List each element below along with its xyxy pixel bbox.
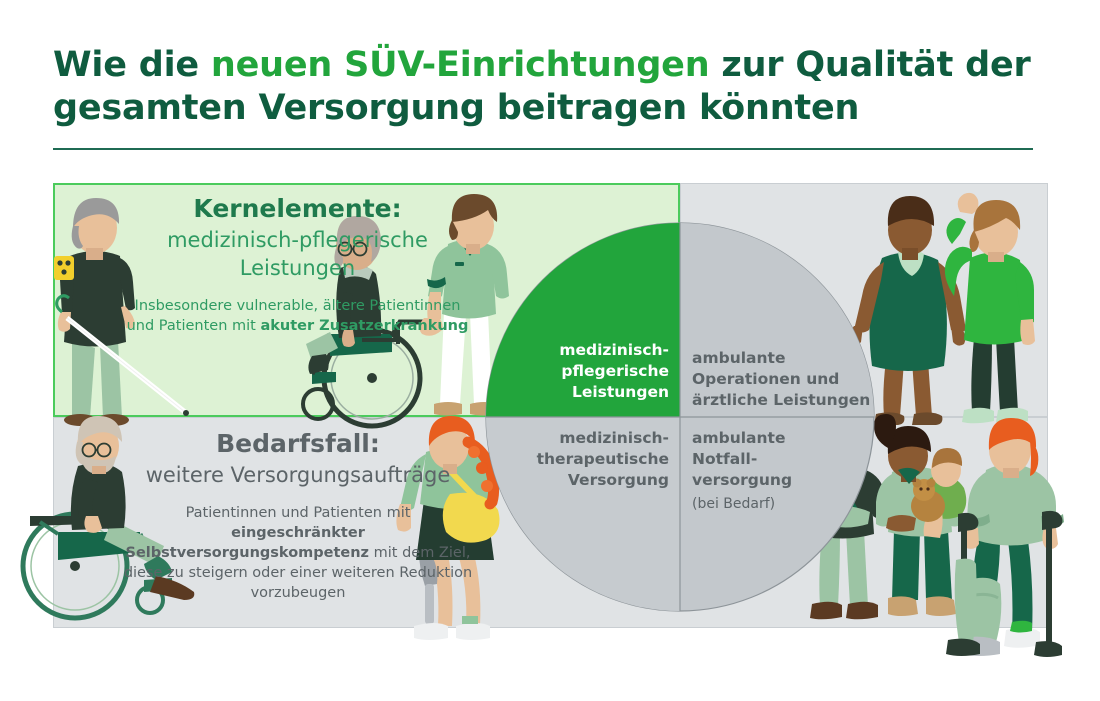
title-highlight: neuen SÜV-Einrichtungen [211, 45, 710, 85]
title-divider [53, 148, 1033, 150]
bedarfsfall-body-pre: Patientinnen und Patienten mit [186, 505, 411, 521]
bedarfsfall-body-bold: eingeschränkter Selbstversorgungskompete… [126, 525, 369, 561]
page-title: Wie die neuen SÜV-Einrichtungen zur Qual… [53, 44, 1033, 130]
infographic-root: Wie die neuen SÜV-Einrichtungen zur Qual… [0, 0, 1100, 701]
circle-label-ambulante-operationen: ambulante Operationen und ärztliche Leis… [692, 348, 872, 411]
circle-label-ambulante-notfallversorgung: ambulante Notfall-versorgung (bei Bedarf… [692, 428, 842, 515]
bedarfsfall-subheading: weitere Versorgungsaufträge [118, 461, 478, 489]
circle-label-notfall-main: ambulante Notfall-versorgung [692, 429, 792, 489]
quadrant-text-bottom-left: Bedarfsfall: weitere Versorgungsaufträge… [118, 428, 478, 603]
bedarfsfall-heading: Bedarfsfall: [118, 428, 478, 459]
circle-label-medizinisch-pflegerische: medizinisch-pflegerische Leistungen [537, 340, 669, 403]
bedarfsfall-body: Patientinnen und Patienten mit eingeschr… [118, 503, 478, 603]
title-line2: gesamten Versorgung beitragen könnten [53, 88, 859, 128]
kernelemente-subheading: medizinisch-pflegerische Leistungen [120, 226, 475, 282]
kernelemente-body-bold: akuter Zusatzerkrankung [260, 318, 468, 334]
four-quadrant-circle [485, 222, 875, 612]
kernelemente-body: Insbesondere vulnerable, ältere Patienti… [120, 296, 475, 336]
kernelemente-heading: Kernelemente: [120, 193, 475, 224]
quadrant-text-top-left: Kernelemente: medizinisch-pflegerische L… [120, 193, 475, 336]
circle-label-notfall-note: (bei Bedarf) [692, 494, 842, 515]
title-line1-part1: Wie die [53, 45, 211, 85]
title-line1-part2: zur Qualität der [709, 45, 1030, 85]
circle-label-medizinisch-therapeutische: medizinisch-therapeutische Versorgung [530, 428, 669, 491]
